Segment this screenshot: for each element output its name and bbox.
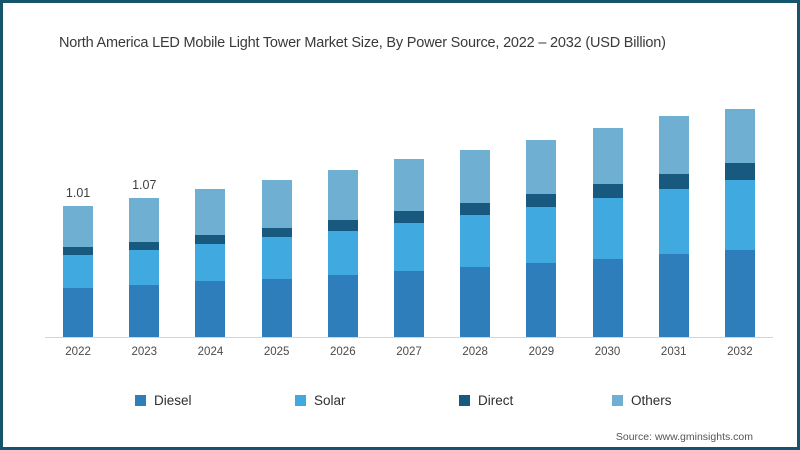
legend-swatch-diesel-icon	[135, 395, 146, 406]
bar-segment-diesel-2030[interactable]	[593, 259, 623, 337]
bar-segment-diesel-2027[interactable]	[394, 271, 424, 337]
bar-segment-solar-2026[interactable]	[328, 231, 358, 275]
chart-title: North America LED Mobile Light Tower Mar…	[59, 35, 769, 51]
bar-2027[interactable]	[394, 159, 424, 337]
x-axis-label-2027: 2027	[379, 346, 439, 358]
x-axis-label-2022: 2022	[48, 346, 108, 358]
bar-2025[interactable]	[262, 180, 292, 337]
bar-segment-solar-2023[interactable]	[129, 250, 159, 285]
bar-segment-others-2028[interactable]	[460, 150, 490, 203]
x-axis-label-2023: 2023	[114, 346, 174, 358]
bar-2022[interactable]	[63, 206, 93, 337]
bar-segment-solar-2024[interactable]	[195, 244, 225, 282]
bar-segment-direct-2022[interactable]	[63, 247, 93, 255]
bar-segment-diesel-2032[interactable]	[725, 250, 755, 337]
bar-2023[interactable]	[129, 198, 159, 337]
legend-item-direct[interactable]: Direct	[459, 393, 513, 408]
legend-label: Direct	[478, 393, 513, 408]
x-axis-label-2032: 2032	[710, 346, 770, 358]
bar-segment-diesel-2023[interactable]	[129, 285, 159, 337]
bar-2026[interactable]	[328, 170, 358, 337]
bar-segment-diesel-2028[interactable]	[460, 267, 490, 337]
legend-label: Solar	[314, 393, 346, 408]
plot-area	[45, 97, 773, 337]
x-axis-label-2031: 2031	[644, 346, 704, 358]
bar-segment-solar-2027[interactable]	[394, 223, 424, 271]
chart-frame: North America LED Mobile Light Tower Mar…	[0, 0, 800, 450]
bar-2028[interactable]	[460, 150, 490, 337]
bar-segment-diesel-2026[interactable]	[328, 275, 358, 337]
x-axis-label-2024: 2024	[180, 346, 240, 358]
bar-segment-direct-2026[interactable]	[328, 220, 358, 230]
bar-segment-others-2022[interactable]	[63, 206, 93, 248]
x-axis-label-2028: 2028	[445, 346, 505, 358]
bar-segment-solar-2030[interactable]	[593, 198, 623, 259]
bar-segment-others-2025[interactable]	[262, 180, 292, 228]
bar-2030[interactable]	[593, 128, 623, 337]
bar-segment-others-2031[interactable]	[659, 116, 689, 173]
bar-segment-direct-2027[interactable]	[394, 211, 424, 223]
bar-segment-others-2023[interactable]	[129, 198, 159, 242]
bar-segment-diesel-2031[interactable]	[659, 254, 689, 337]
legend-swatch-solar-icon	[295, 395, 306, 406]
legend-label: Others	[631, 393, 672, 408]
bar-2031[interactable]	[659, 116, 689, 337]
bar-segment-others-2027[interactable]	[394, 159, 424, 211]
bar-segment-solar-2025[interactable]	[262, 237, 292, 279]
legend-swatch-others-icon	[612, 395, 623, 406]
chart-canvas: North America LED Mobile Light Tower Mar…	[6, 6, 794, 444]
x-axis-label-2029: 2029	[511, 346, 571, 358]
bar-segment-others-2026[interactable]	[328, 170, 358, 221]
bar-segment-diesel-2022[interactable]	[63, 288, 93, 337]
bar-segment-others-2030[interactable]	[593, 128, 623, 184]
x-axis-label-2025: 2025	[247, 346, 307, 358]
legend-item-diesel[interactable]: Diesel	[135, 393, 192, 408]
bar-segment-solar-2032[interactable]	[725, 180, 755, 250]
bar-segment-solar-2029[interactable]	[526, 207, 556, 263]
bar-2024[interactable]	[195, 189, 225, 337]
bar-segment-direct-2028[interactable]	[460, 203, 490, 215]
legend-swatch-direct-icon	[459, 395, 470, 406]
source-attribution: Source: www.gminsights.com	[616, 431, 753, 443]
x-axis-line	[45, 337, 773, 338]
bar-segment-solar-2022[interactable]	[63, 255, 93, 287]
bar-segment-others-2024[interactable]	[195, 189, 225, 234]
bar-segment-direct-2032[interactable]	[725, 163, 755, 180]
bar-2032[interactable]	[725, 109, 755, 337]
value-label-2023: 1.07	[114, 178, 174, 192]
bar-segment-solar-2031[interactable]	[659, 189, 689, 254]
x-axis-label-2030: 2030	[578, 346, 638, 358]
bar-segment-others-2032[interactable]	[725, 109, 755, 163]
bar-segment-diesel-2024[interactable]	[195, 281, 225, 337]
bar-segment-direct-2030[interactable]	[593, 184, 623, 198]
bar-segment-direct-2031[interactable]	[659, 174, 689, 190]
value-label-2022: 1.01	[48, 186, 108, 200]
bar-segment-direct-2024[interactable]	[195, 235, 225, 244]
bar-segment-direct-2023[interactable]	[129, 242, 159, 250]
bar-2029[interactable]	[526, 140, 556, 337]
bar-segment-others-2029[interactable]	[526, 140, 556, 194]
bar-segment-solar-2028[interactable]	[460, 215, 490, 267]
bar-segment-diesel-2029[interactable]	[526, 263, 556, 337]
bar-segment-direct-2025[interactable]	[262, 228, 292, 237]
x-axis-label-2026: 2026	[313, 346, 373, 358]
chart-legend: DieselSolarDirectOthers	[7, 393, 800, 415]
legend-item-solar[interactable]: Solar	[295, 393, 346, 408]
legend-label: Diesel	[154, 393, 192, 408]
legend-item-others[interactable]: Others	[612, 393, 672, 408]
bar-segment-diesel-2025[interactable]	[262, 279, 292, 337]
bar-segment-direct-2029[interactable]	[526, 194, 556, 207]
